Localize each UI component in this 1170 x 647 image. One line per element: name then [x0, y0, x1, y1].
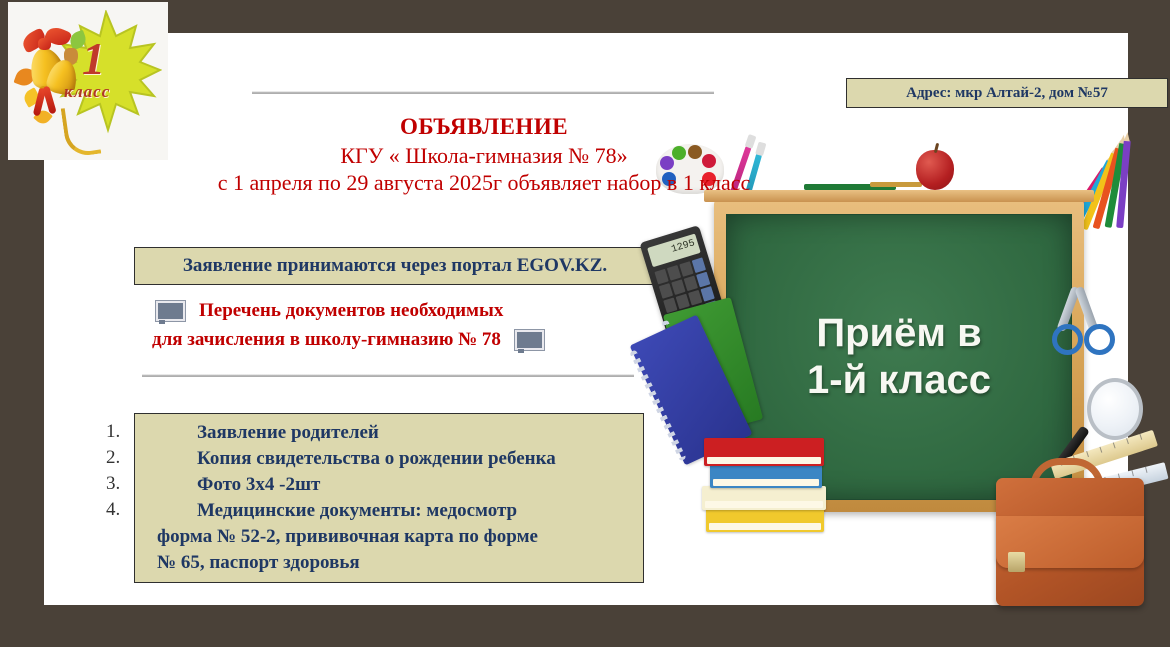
documents-heading-line-2: для зачисления в школу-гимназию № 78: [152, 326, 501, 355]
chalkboard-line-1: Приём в: [816, 310, 981, 357]
list-number: 4.: [106, 497, 136, 523]
chalkboard-line-2: 1-й класс: [807, 357, 991, 404]
magnifying-glass-icon: [1087, 378, 1143, 440]
slide-root: ОБЪЯВЛЕНИЕ КГУ « Школа-гимназия № 78» с …: [0, 0, 1170, 647]
divider-top: [252, 91, 714, 94]
address-label: Адрес: мкр Алтай-2, дом №57: [906, 85, 1108, 102]
book-stack-icon: [706, 508, 824, 532]
documents-heading-row-2: для зачисления в школу-гимназию № 78: [144, 326, 644, 355]
list-number: 3.: [106, 471, 136, 497]
announcement-headline: ОБЪЯВЛЕНИЕ КГУ « Школа-гимназия № 78» с …: [164, 113, 804, 196]
school-supplies-illustration: Приём в 1-й класс 1295: [644, 128, 1170, 618]
list-number: 2.: [106, 445, 136, 471]
list-item-continuation: форма № 52-2, прививочная карта по форме: [135, 524, 643, 550]
egov-portal-label: Заявление принимаются через портал EGOV.…: [183, 255, 607, 277]
monitor-icon: [515, 330, 544, 350]
red-apple-icon: [916, 150, 954, 190]
document-list-box: Заявление родителей Копия свидетельства …: [134, 413, 644, 583]
list-item: Медицинские документы: медосмотр: [135, 498, 643, 524]
scissors-icon: [1084, 324, 1115, 355]
documents-heading-line-1: Перечень документов необходимых: [199, 297, 503, 326]
leaf-stem: [61, 104, 102, 158]
egov-portal-notice: Заявление принимаются через портал EGOV.…: [134, 247, 656, 285]
leaf-badge-number: 1: [82, 32, 105, 85]
list-item: Заявление родителей: [135, 420, 643, 446]
first-grade-leaf-badge: 1 класс: [8, 2, 168, 160]
book-stack-icon: [704, 438, 824, 466]
slide-canvas: ОБЪЯВЛЕНИЕ КГУ « Школа-гимназия № 78» с …: [44, 33, 1128, 605]
list-number: 1.: [106, 419, 136, 445]
briefcase-icon: [996, 456, 1144, 606]
announcement-period: с 1 апреля по 29 августа 2025г объявляет…: [164, 169, 804, 196]
monitor-icon: [156, 301, 185, 321]
document-list-numbers: 1. 2. 3. 4.: [106, 419, 136, 523]
announcement-school-name: КГУ « Школа-гимназия № 78»: [164, 142, 804, 169]
documents-heading: Перечень документов необходимых для зачи…: [144, 297, 644, 354]
list-item: Копия свидетельства о рождении ребенка: [135, 446, 643, 472]
scissors-icon: [1052, 324, 1083, 355]
flat-books-icon: [870, 182, 922, 187]
list-item-continuation: № 65, паспорт здоровья: [135, 550, 643, 576]
announcement-title: ОБЪЯВЛЕНИЕ: [164, 113, 804, 142]
leaf-badge-word: класс: [64, 82, 110, 102]
red-bow-icon: [38, 38, 51, 50]
divider-middle: [142, 374, 634, 377]
documents-heading-row-1: Перечень документов необходимых: [144, 297, 644, 326]
briefcase-lock: [1008, 552, 1025, 572]
book-stack-icon: [710, 464, 822, 488]
book-stack-icon: [702, 486, 826, 510]
list-item: Фото 3х4 -2шт: [135, 472, 643, 498]
address-badge: Адрес: мкр Алтай-2, дом №57: [846, 78, 1168, 108]
document-list: Заявление родителей Копия свидетельства …: [135, 414, 643, 576]
